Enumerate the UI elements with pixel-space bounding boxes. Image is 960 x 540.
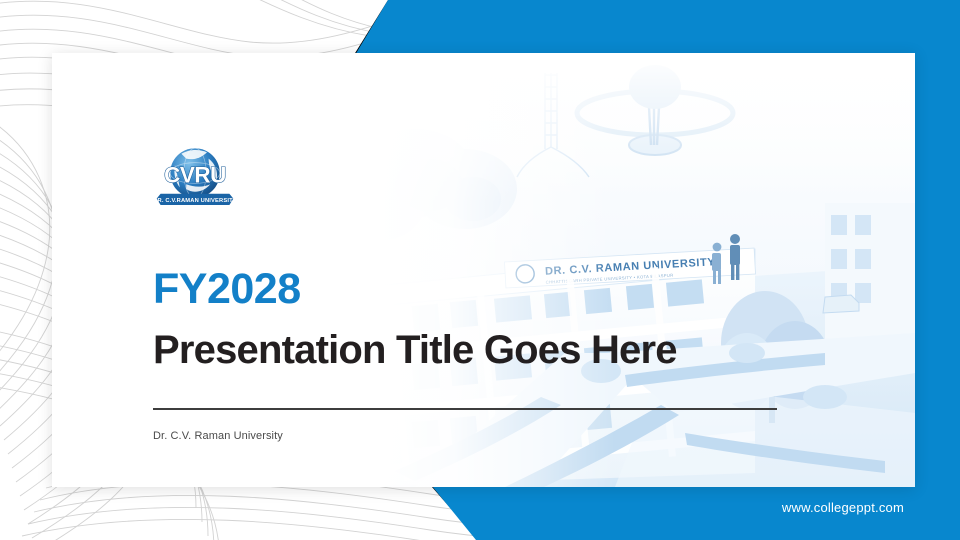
website-url: www.collegeppt.com [782, 500, 904, 515]
logo-university-name: DR. C.V.RAMAN UNIVERSITY [153, 198, 237, 204]
cvru-logo: CVRU DR. C.V.RAMAN UNIVERSITY [151, 141, 239, 213]
fiscal-year: FY2028 [153, 268, 853, 311]
title-block: FY2028 Presentation Title Goes Here [153, 268, 853, 371]
title-divider [153, 408, 777, 410]
page-title: Presentation Title Goes Here [153, 329, 853, 371]
slide-card: DR. C.V. RAMAN UNIVERSITY CHHATTISGARH P… [52, 53, 915, 487]
subtitle: Dr. C.V. Raman University [153, 430, 283, 442]
presentation-slide: DR. C.V. RAMAN UNIVERSITY CHHATTISGARH P… [0, 0, 960, 540]
logo-acronym-text: CVRU [164, 163, 226, 188]
